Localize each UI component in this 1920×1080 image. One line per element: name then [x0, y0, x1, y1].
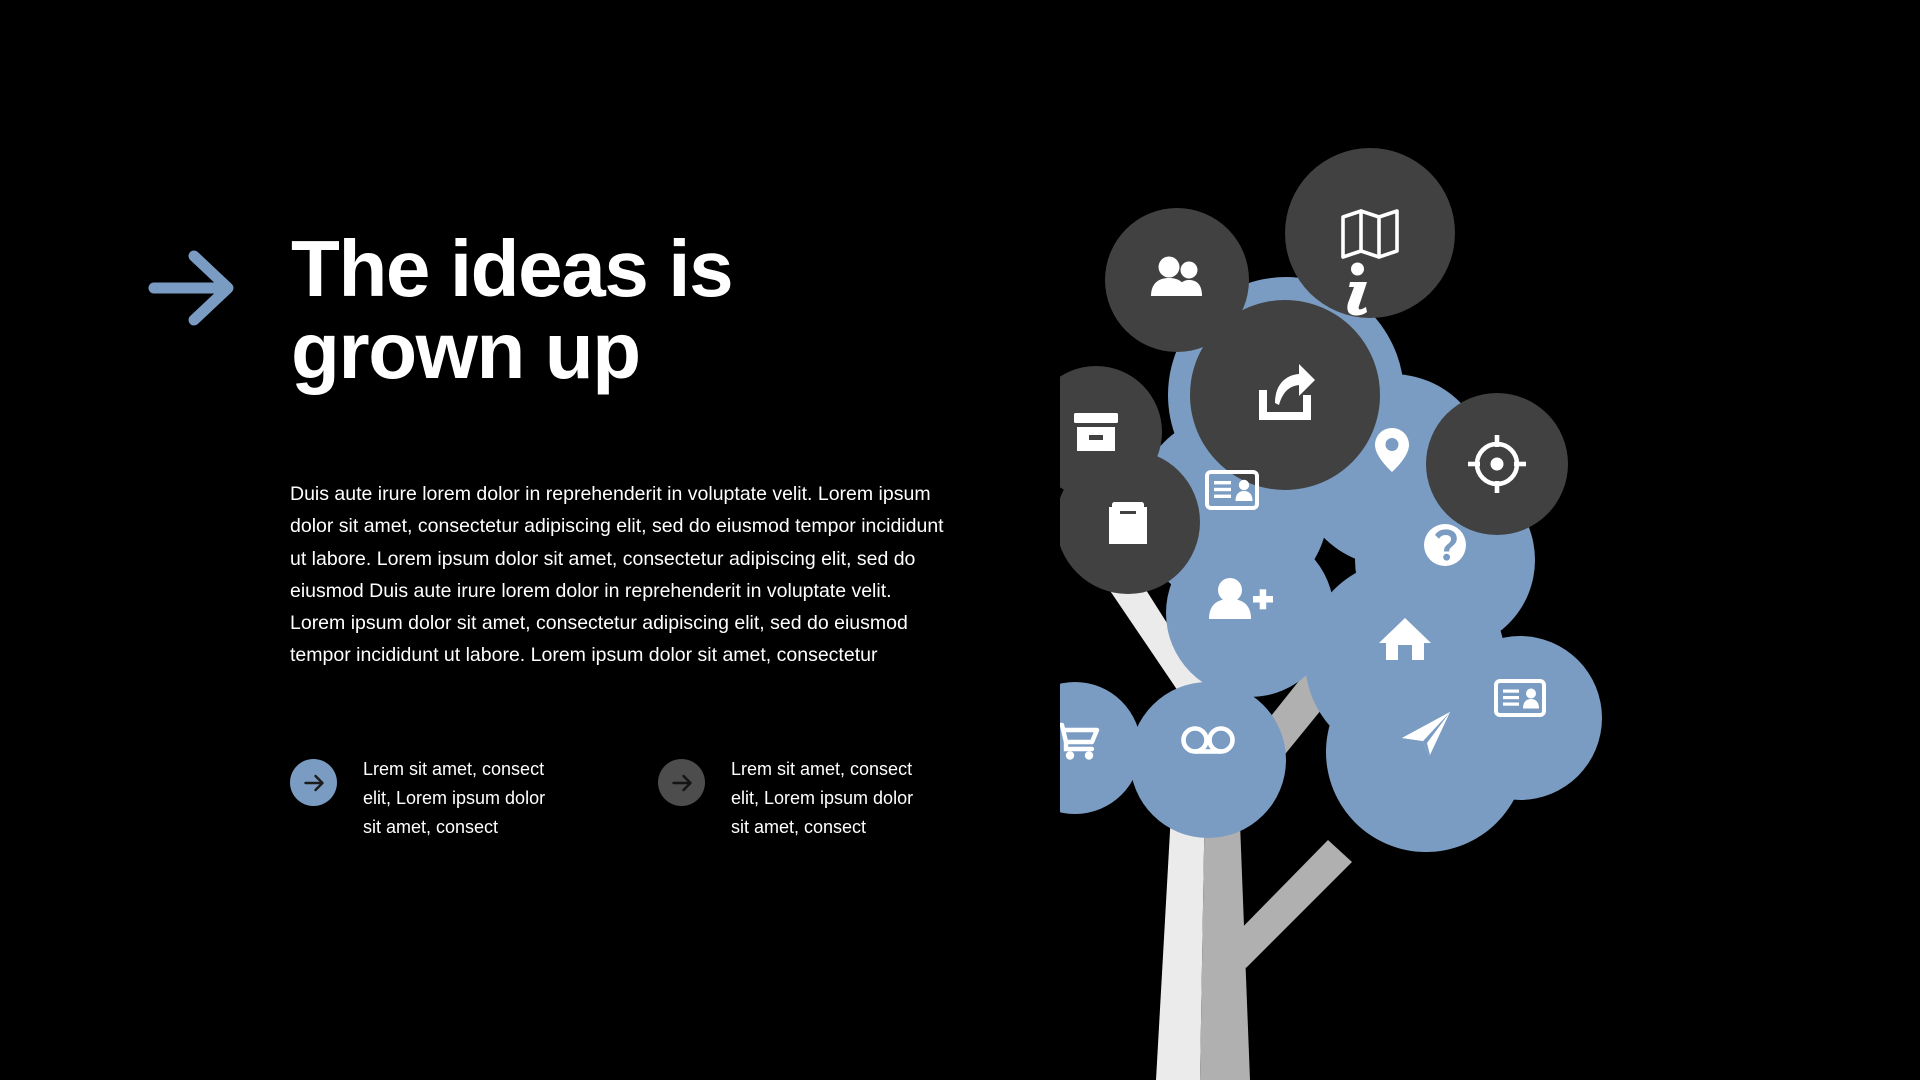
canopy-cluster	[1060, 148, 1602, 852]
arrow-right-icon	[148, 246, 236, 330]
list-item[interactable]: Lrem sit amet, consect elit, Lorem ipsum…	[290, 755, 580, 842]
list-item-label: Lrem sit amet, consect elit, Lorem ipsum…	[731, 755, 913, 842]
leaf-map-bg	[1285, 148, 1455, 318]
leaf-voicemail-bg	[1130, 682, 1286, 838]
archive-box-icon	[1074, 413, 1118, 451]
leaf-share-bg	[1190, 300, 1380, 490]
tree-illustration	[1060, 140, 1920, 1080]
arrow-right-icon	[658, 759, 705, 806]
title-block: The ideas is grown up	[148, 228, 732, 393]
bullet-list: Lrem sit amet, consect elit, Lorem ipsum…	[290, 755, 948, 842]
page-title: The ideas is grown up	[291, 228, 732, 393]
help-circle-icon	[1424, 524, 1466, 566]
list-item[interactable]: Lrem sit amet, consect elit, Lorem ipsum…	[658, 755, 948, 842]
icon-tree-graphic	[1060, 140, 1920, 1080]
arrow-right-icon	[290, 759, 337, 806]
list-item-label: Lrem sit amet, consect elit, Lorem ipsum…	[363, 755, 545, 842]
leaf-contact2-bg	[1438, 636, 1602, 800]
body-paragraph: Duis aute irure lorem dolor in reprehend…	[290, 478, 945, 672]
clipboard-icon	[1109, 502, 1147, 544]
left-content-column: The ideas is grown up Duis aute irure lo…	[0, 0, 980, 1080]
